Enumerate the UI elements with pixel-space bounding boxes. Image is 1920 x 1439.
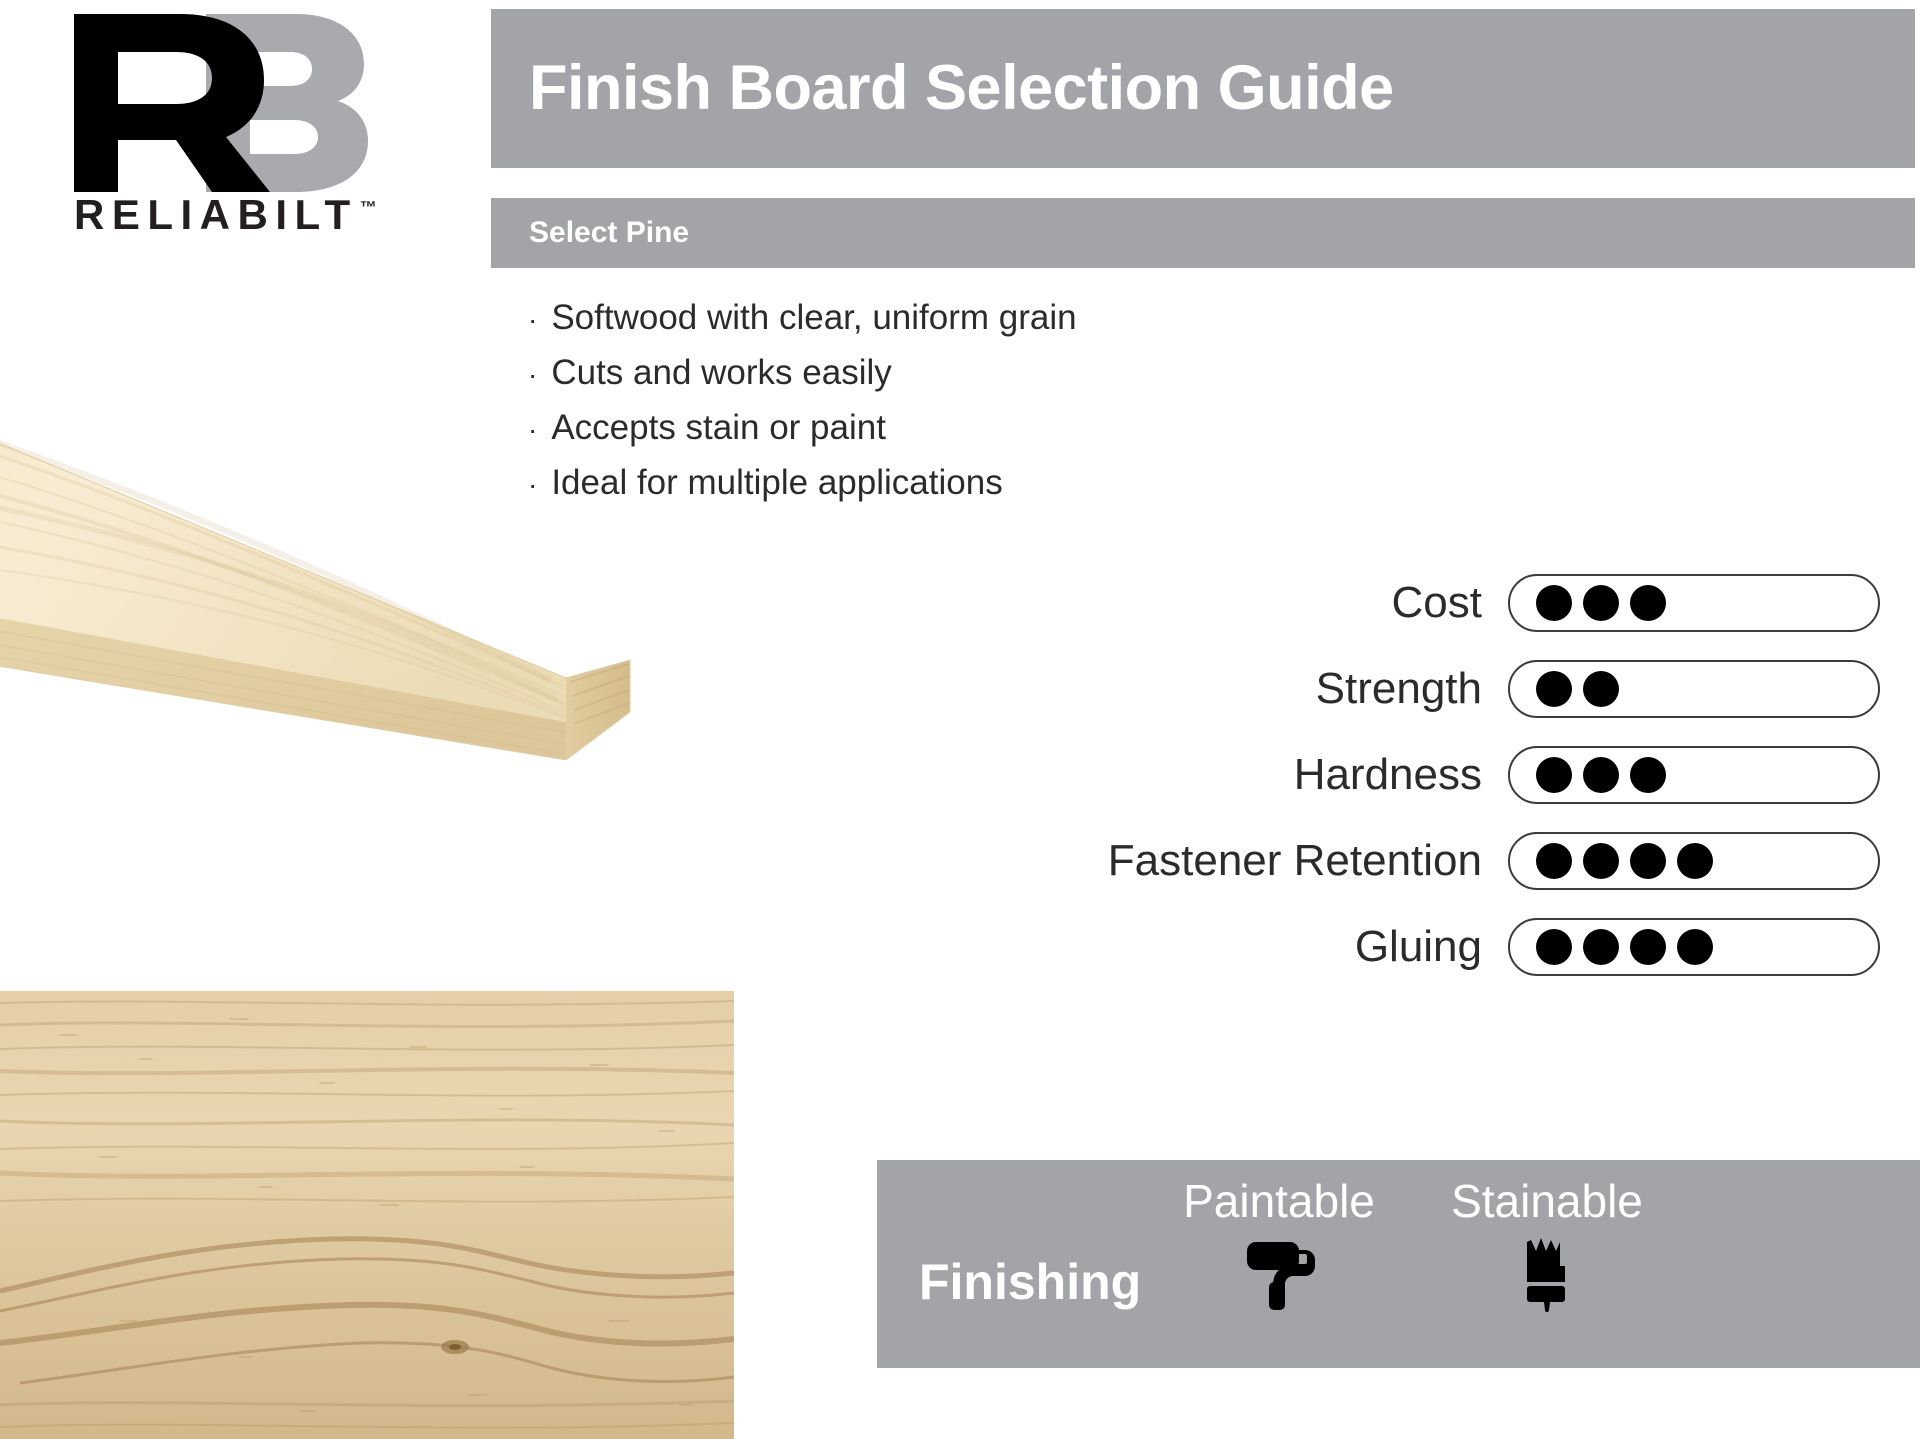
brand-wordmark-text: RELIABILT (74, 191, 358, 238)
title-bar: Finish Board Selection Guide (491, 9, 1915, 168)
rating-dot (1677, 929, 1713, 965)
rating-row-cost: Cost (900, 560, 1880, 646)
rating-dot (1536, 671, 1572, 707)
wood-grain-image (0, 991, 734, 1439)
rating-dot (1536, 757, 1572, 793)
product-subtitle: Select Pine (529, 218, 689, 248)
rating-row-gluing: Gluing (900, 904, 1880, 990)
rating-row-fastener-retention: Fastener Retention (900, 818, 1880, 904)
rating-row-strength: Strength (900, 646, 1880, 732)
brand-logo: RELIABILT™ (38, 8, 438, 233)
rating-dot (1630, 843, 1666, 879)
rb-monogram-icon (38, 8, 368, 198)
rating-pill (1508, 918, 1880, 976)
rating-dot (1630, 929, 1666, 965)
rating-dot (1583, 757, 1619, 793)
ratings-panel: Cost Strength Hardness Fastener Retentio… (900, 560, 1880, 990)
rating-dot (1677, 843, 1713, 879)
finishing-title: Finishing (919, 1257, 1141, 1307)
paint-roller-icon (1149, 1238, 1409, 1314)
subtitle-bar: Select Pine (491, 198, 1915, 268)
brand-wordmark: RELIABILT™ (74, 194, 377, 236)
rating-dot (1536, 843, 1572, 879)
paint-brush-icon (1417, 1238, 1677, 1314)
rating-label: Cost (1392, 581, 1508, 625)
finish-option-stainable: Stainable (1417, 1178, 1677, 1314)
rating-label: Hardness (1294, 753, 1508, 797)
rating-pill (1508, 574, 1880, 632)
list-item: · Softwood with clear, uniform grain (528, 300, 1428, 335)
rating-label: Fastener Retention (1108, 839, 1508, 883)
bullet-icon: · (528, 306, 537, 334)
page-title: Finish Board Selection Guide (529, 57, 1394, 120)
rating-label: Strength (1316, 667, 1508, 711)
rating-dot (1583, 671, 1619, 707)
rating-label: Gluing (1355, 925, 1508, 969)
finishing-bar: Finishing Paintable Stainable (877, 1160, 1920, 1368)
rating-dot (1536, 585, 1572, 621)
finish-option-paintable: Paintable (1149, 1178, 1409, 1314)
rating-dot (1630, 585, 1666, 621)
rating-pill (1508, 832, 1880, 890)
rating-row-hardness: Hardness (900, 732, 1880, 818)
pine-board-photo (0, 360, 770, 760)
rating-dot (1583, 843, 1619, 879)
trademark-symbol: ™ (360, 198, 377, 217)
finish-option-label: Stainable (1417, 1178, 1677, 1224)
rating-pill (1508, 746, 1880, 804)
rating-pill (1508, 660, 1880, 718)
rating-dot (1630, 757, 1666, 793)
wood-grain-swatch (0, 991, 734, 1439)
finish-option-label: Paintable (1149, 1178, 1409, 1224)
list-item-label: Softwood with clear, uniform grain (551, 300, 1076, 335)
rating-dot (1536, 929, 1572, 965)
rating-dot (1583, 585, 1619, 621)
rating-dot (1583, 929, 1619, 965)
